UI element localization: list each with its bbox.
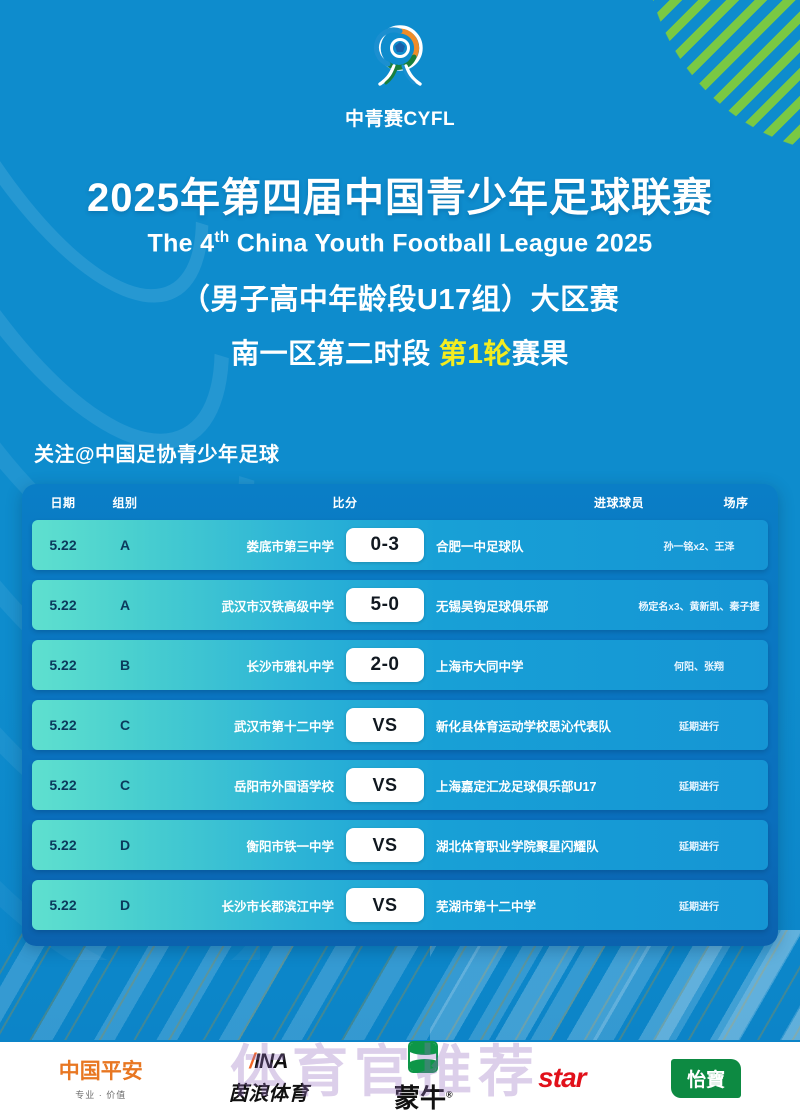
sponsor-star: star (538, 1062, 585, 1094)
cell-status: 延期进行 (614, 838, 768, 853)
away-team-name: 湖北体育职业学院聚星闪耀队 (424, 836, 614, 855)
registered-mark: ® (446, 1089, 453, 1099)
pingan-wordmark: 中国平安 (59, 1055, 143, 1085)
cell-date: 5.22 (32, 837, 94, 853)
mengniu-label: 蒙牛 (394, 1083, 446, 1113)
cell-match: 长沙市雅礼中学2-0上海市大同中学 (156, 648, 614, 682)
away-team-name: 芜湖市第十二中学 (424, 896, 614, 915)
pingan-tagline: 专业 · 价值 (75, 1088, 126, 1101)
cell-match: 武汉市汉铁高级中学5-0无锡吴钩足球俱乐部 (156, 588, 614, 622)
follow-handle-text: 关注@中国足协青少年足球 (34, 438, 280, 467)
score-pill: 0-3 (346, 528, 424, 562)
table-row: 5.22C武汉市第十二中学VS新化县体育运动学校思沁代表队延期进行35 (32, 700, 768, 750)
stripe-layer-right (430, 930, 800, 1040)
sponsor-pingan: 中国平安 专业 · 价值 (59, 1055, 143, 1101)
ina-chinese-name: 茵浪体育 (228, 1077, 308, 1106)
vs-pill: VS (346, 828, 424, 862)
cell-date: 5.22 (32, 717, 94, 733)
title-english-ordinal: th (214, 229, 229, 246)
header-scorers: 进球球员 (534, 494, 704, 511)
home-team-name: 武汉市汉铁高级中学 (156, 596, 346, 615)
table-row: 5.22C岳阳市外国语学校VS上海嘉定汇龙足球俱乐部U17延期进行36 (32, 760, 768, 810)
header-score: 比分 (156, 494, 534, 511)
title-english-rest: China Youth Football League 2025 (237, 229, 653, 257)
title-block: 2025年第四届中国青少年足球联赛 The 4th China Youth Fo… (0, 176, 800, 372)
cell-group: D (94, 837, 156, 853)
table-header-row: 日期 组别 比分 进球球员 场序 (32, 484, 768, 520)
cell-date: 5.22 (32, 657, 94, 673)
away-team-name: 上海嘉定汇龙足球俱乐部U17 (424, 776, 614, 795)
table-row: 5.22A武汉市汉铁高级中学5-0无锡吴钩足球俱乐部杨定名x3、黄新凯、秦子捷3… (32, 580, 768, 630)
home-team-name: 娄底市第三中学 (156, 536, 346, 555)
cell-status: 延期进行 (614, 898, 768, 913)
table-row: 5.22A娄底市第三中学0-3合肥一中足球队孙一铭x2、王泽32 (32, 520, 768, 570)
cell-date: 5.22 (32, 777, 94, 793)
cell-scorers: 孙一铭x2、王泽 (614, 538, 768, 553)
cell-group: C (94, 717, 156, 733)
lower-stripe-band (0, 930, 800, 1040)
mengniu-logo-icon (408, 1041, 438, 1073)
table-body: 5.22A娄底市第三中学0-3合肥一中足球队孙一铭x2、王泽325.22A武汉市… (32, 520, 768, 930)
logo-wordmark: 中青赛CYFL (345, 104, 455, 131)
home-team-name: 长沙市长郡滨江中学 (156, 896, 346, 915)
cell-match: 衡阳市铁一中学VS湖北体育职业学院聚星闪耀队 (156, 828, 614, 862)
yibao-wordmark: 怡寶 (671, 1059, 741, 1098)
score-pill: 2-0 (346, 648, 424, 682)
cell-match: 岳阳市外国语学校VS上海嘉定汇龙足球俱乐部U17 (156, 768, 614, 802)
round-prefix: 南一区第二时段 (231, 338, 439, 369)
vs-pill: VS (346, 708, 424, 742)
cell-status: 延期进行 (614, 778, 768, 793)
home-team-name: 武汉市第十二中学 (156, 716, 346, 735)
star-wordmark: star (538, 1062, 585, 1094)
cell-status: 延期进行 (614, 718, 768, 733)
sponsor-ina: /INA 茵浪体育 (228, 1050, 308, 1106)
away-team-name: 上海市大同中学 (424, 656, 614, 675)
vs-pill: VS (346, 768, 424, 802)
title-subtitle-category: （男子高中年龄段U17组）大区赛 (0, 276, 800, 318)
title-subtitle-round: 南一区第二时段 第1轮赛果 (0, 332, 800, 372)
cell-match: 武汉市第十二中学VS新化县体育运动学校思沁代表队 (156, 708, 614, 742)
cell-date: 5.22 (32, 897, 94, 913)
round-highlight: 第1轮 (439, 338, 512, 369)
cell-match: 长沙市长郡滨江中学VS芜湖市第十二中学 (156, 888, 614, 922)
header-group: 组别 (94, 494, 156, 511)
away-team-name: 无锡吴钩足球俱乐部 (424, 596, 614, 615)
header-order: 场序 (704, 494, 768, 511)
cell-scorers: 何阳、张翔 (614, 658, 768, 673)
cell-group: D (94, 897, 156, 913)
away-team-name: 新化县体育运动学校思沁代表队 (424, 716, 614, 735)
home-team-name: 长沙市雅礼中学 (156, 656, 346, 675)
results-table-panel: 日期 组别 比分 进球球员 场序 5.22A娄底市第三中学0-3合肥一中足球队孙… (22, 484, 778, 946)
cell-date: 5.22 (32, 597, 94, 613)
mengniu-wordmark: 蒙牛® (394, 1078, 453, 1114)
title-english: The 4th China Youth Football League 2025 (0, 229, 800, 258)
cell-date: 5.22 (32, 537, 94, 553)
sponsor-yibao: 怡寶 (671, 1059, 741, 1098)
cell-group: A (94, 537, 156, 553)
home-team-name: 岳阳市外国语学校 (156, 776, 346, 795)
cell-group: C (94, 777, 156, 793)
vs-pill: VS (346, 888, 424, 922)
league-logo: 中青赛CYFL (0, 22, 800, 131)
cell-group: B (94, 657, 156, 673)
sponsor-mengniu: 蒙牛® (394, 1041, 453, 1114)
ina-letters: INA (254, 1050, 287, 1073)
page-title: 2025年第四届中国青少年足球联赛 (0, 176, 800, 221)
round-suffix: 赛果 (512, 338, 569, 369)
cell-match: 娄底市第三中学0-3合肥一中足球队 (156, 528, 614, 562)
sponsor-footer: 中国平安 专业 · 价值 /INA 茵浪体育 蒙牛® star 怡寶 (0, 1042, 800, 1114)
title-english-prefix: The 4 (148, 229, 215, 257)
table-row: 5.22D衡阳市铁一中学VS湖北体育职业学院聚星闪耀队延期进行37 (32, 820, 768, 870)
cell-group: A (94, 597, 156, 613)
score-pill: 5-0 (346, 588, 424, 622)
ina-logo-mark: /INA (249, 1050, 287, 1074)
away-team-name: 合肥一中足球队 (424, 536, 614, 555)
home-team-name: 衡阳市铁一中学 (156, 836, 346, 855)
cell-scorers: 杨定名x3、黄新凯、秦子捷 (614, 598, 768, 613)
table-row: 5.22D长沙市长郡滨江中学VS芜湖市第十二中学延期进行38 (32, 880, 768, 930)
table-row: 5.22B长沙市雅礼中学2-0上海市大同中学何阳、张翔34 (32, 640, 768, 690)
header-date: 日期 (32, 494, 94, 511)
cyfl-emblem-icon (364, 22, 436, 102)
poster-root: 中青赛CYFL 2025年第四届中国青少年足球联赛 The 4th China … (0, 0, 800, 1114)
